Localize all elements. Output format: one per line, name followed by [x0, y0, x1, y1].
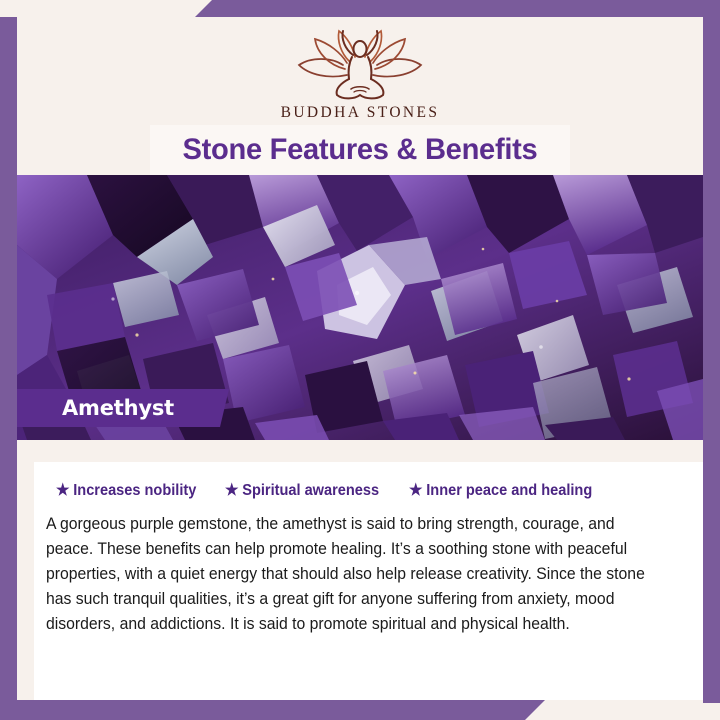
title-plate: Stone Features & Benefits [150, 125, 570, 175]
benefit-item: ★ Spiritual awareness [225, 482, 379, 500]
benefit-label: Increases nobility [73, 482, 196, 500]
benefit-item: ★ Increases nobility [56, 482, 196, 500]
star-icon: ★ [409, 483, 422, 499]
stone-name-banner: Amethyst [17, 389, 229, 427]
lotus-meditation-icon [285, 29, 435, 101]
star-icon: ★ [225, 483, 238, 499]
frame-border-top [195, 0, 720, 17]
benefit-item: ★ Inner peace and healing [409, 482, 592, 500]
brand-logo: BUDDHA STONES [17, 29, 703, 122]
brand-name: BUDDHA STONES [281, 104, 440, 122]
benefit-label: Inner peace and healing [426, 482, 592, 500]
description-panel-inner: ★ Increases nobility ★ Spiritual awarene… [34, 462, 703, 700]
hero-image: Amethyst [17, 175, 703, 440]
stone-name-label: Amethyst [62, 396, 174, 420]
stone-description: A gorgeous purple gemstone, the amethyst… [46, 512, 652, 637]
page-header: BUDDHA STONES Stone Features & Benefits [17, 17, 703, 175]
frame-border-right [703, 0, 720, 703]
content-canvas: BUDDHA STONES Stone Features & Benefits [17, 17, 703, 700]
page-title: Stone Features & Benefits [183, 133, 538, 167]
frame-border-bottom [0, 700, 545, 720]
benefit-label: Spiritual awareness [243, 482, 380, 500]
frame-border-left [0, 17, 17, 720]
benefits-list: ★ Increases nobility ★ Spiritual awarene… [34, 462, 703, 500]
infographic-page: BUDDHA STONES Stone Features & Benefits [0, 0, 720, 720]
star-icon: ★ [56, 483, 69, 499]
description-panel: ★ Increases nobility ★ Spiritual awarene… [17, 440, 703, 700]
